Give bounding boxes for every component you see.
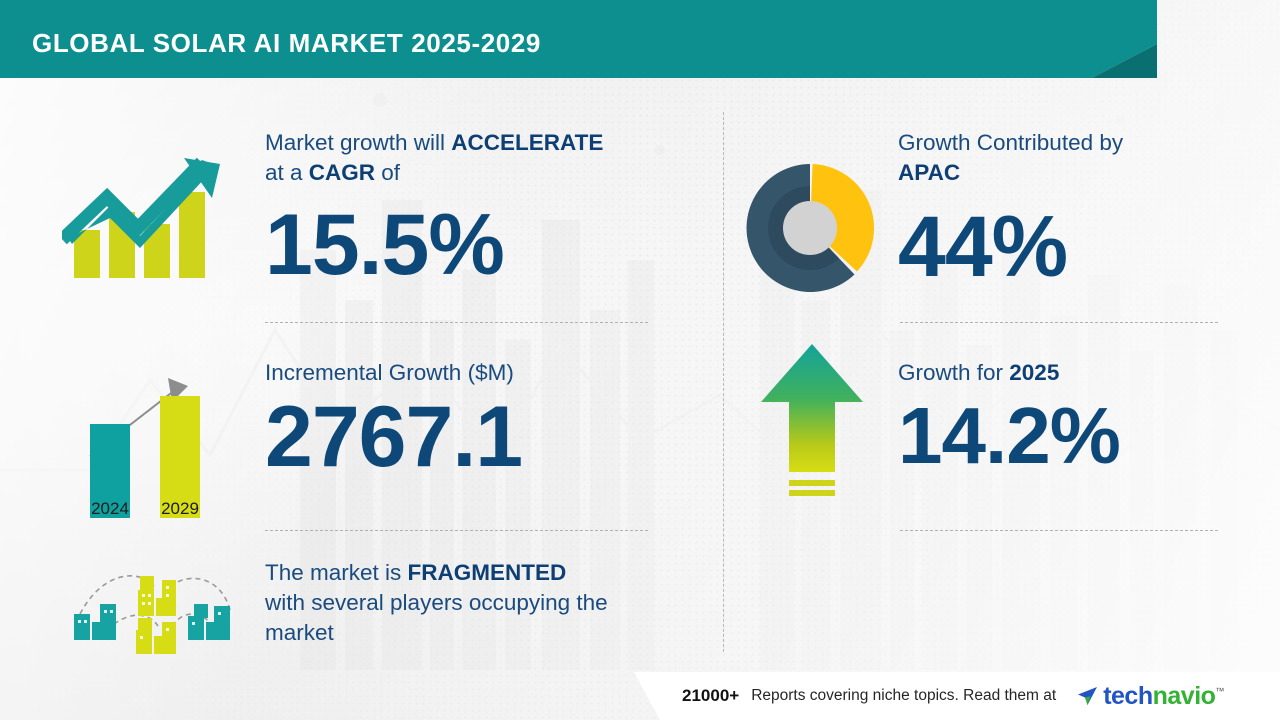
up-arrow-icon [757, 340, 867, 510]
frag-line1-strong: FRAGMENTED [408, 560, 567, 585]
frag-line3: market [265, 620, 334, 645]
divider-left-1 [265, 322, 648, 323]
trademark-symbol: ™ [1215, 686, 1224, 696]
cagr-block: Market growth will ACCELERATE at a CAGR … [265, 128, 705, 288]
infographic-canvas: GLOBAL SOLAR AI MARKET 2025-2029 [0, 0, 1280, 720]
incremental-growth-block: Incremental Growth ($M) 2767.1 [265, 358, 705, 480]
apac-value: 44% [898, 204, 1228, 290]
apac-line1: Growth Contributed by [898, 130, 1123, 155]
fragmentation-block: The market is FRAGMENTED with several pl… [265, 558, 685, 648]
logo-text-tech: tech [1103, 682, 1152, 710]
growth-2025-value: 14.2% [898, 396, 1228, 476]
footer-bar: 21000+ Reports covering niche topics. Re… [660, 672, 1280, 720]
frag-line1-pre: The market is [265, 560, 408, 585]
cagr-line1-pre: Market growth will [265, 130, 451, 155]
fragmentation-headline: The market is FRAGMENTED with several pl… [265, 558, 685, 648]
incremental-label: Incremental Growth ($M) [265, 358, 705, 388]
g2025-line1-strong: 2025 [1009, 360, 1059, 385]
cagr-value: 15.5% [265, 202, 705, 288]
incremental-value: 2767.1 [265, 394, 705, 480]
report-count: 21000+ [682, 686, 739, 706]
apac-headline: Growth Contributed by APAC [898, 128, 1228, 188]
bar-label-2029: 2029 [161, 499, 199, 518]
cagr-line2-post: of [375, 160, 400, 185]
page-title: GLOBAL SOLAR AI MARKET 2025-2029 [32, 28, 541, 59]
apac-line2-strong: APAC [898, 160, 960, 185]
frag-line2: with several players occupying the [265, 590, 608, 615]
cagr-line2-pre: at a [265, 160, 309, 185]
growth-chart-icon [62, 140, 227, 295]
growth-2025-block: Growth for 2025 14.2% [898, 358, 1228, 476]
column-separator [723, 112, 724, 652]
g2025-line1-pre: Growth for [898, 360, 1009, 385]
cagr-line2-strong: CAGR [309, 160, 375, 185]
cagr-headline: Market growth will ACCELERATE at a CAGR … [265, 128, 705, 188]
apac-block: Growth Contributed by APAC 44% [898, 128, 1228, 290]
divider-right-2 [900, 530, 1218, 531]
technavio-arrow-icon [1074, 683, 1100, 709]
donut-chart-icon [740, 158, 880, 303]
growth-2025-headline: Growth for 2025 [898, 358, 1228, 388]
technavio-logo[interactable]: technavio ™ [1074, 682, 1224, 711]
divider-left-2 [265, 530, 648, 531]
city-cluster-icon [62, 552, 247, 667]
divider-right-1 [900, 322, 1218, 323]
logo-text-navio: navio [1153, 682, 1216, 710]
header-banner: GLOBAL SOLAR AI MARKET 2025-2029 [0, 0, 1280, 110]
footer-text: Reports covering niche topics. Read them… [751, 687, 1056, 705]
bar-comparison-icon: 2024 2029 [62, 328, 227, 523]
bar-label-2024: 2024 [91, 499, 129, 518]
cagr-line1-strong: ACCELERATE [451, 130, 603, 155]
technavio-wordmark: technavio [1103, 682, 1215, 711]
